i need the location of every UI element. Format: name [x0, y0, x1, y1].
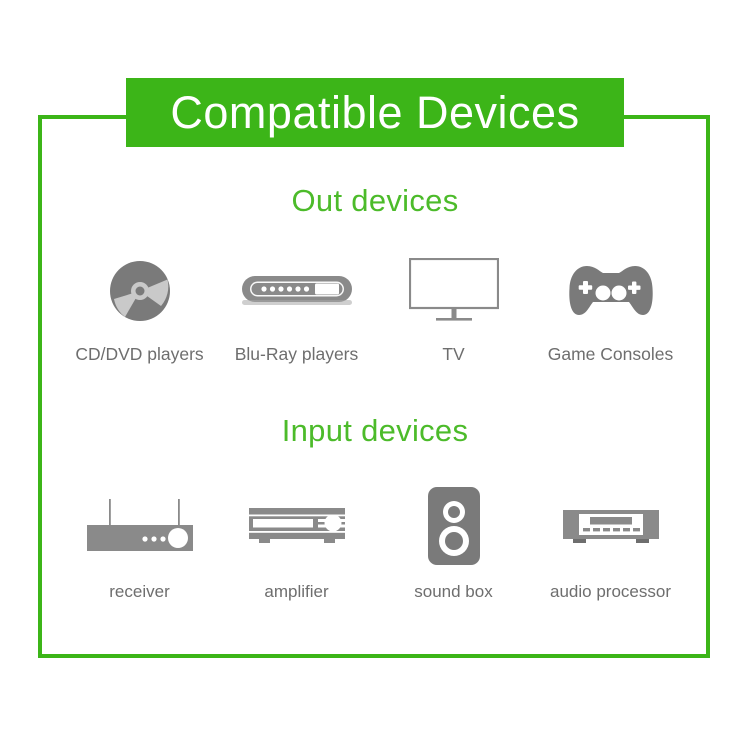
gamepad-icon: [567, 248, 655, 333]
section-heading-out-devices: Out devices: [0, 183, 750, 219]
blu-ray-player-icon: [242, 248, 352, 333]
page-title: Compatible Devices: [170, 90, 579, 135]
device-cd-dvd-players: CD/DVD players: [61, 248, 218, 365]
device-sound-box: sound box: [375, 478, 532, 602]
audio-processor-icon: [559, 478, 663, 573]
section-heading-input-devices: Input devices: [0, 413, 750, 449]
device-label: audio processor: [550, 582, 671, 602]
device-label: Blu-Ray players: [235, 344, 359, 365]
amplifier-icon: [245, 478, 349, 573]
device-label: receiver: [109, 582, 169, 602]
device-amplifier: amplifier: [218, 478, 375, 602]
input-devices-row: receiver amplifier: [60, 478, 690, 602]
device-label: CD/DVD players: [75, 344, 203, 365]
receiver-icon: [82, 478, 198, 573]
device-receiver: receiver: [61, 478, 218, 602]
tv-icon: [409, 248, 499, 333]
device-label: sound box: [414, 582, 492, 602]
title-banner: Compatible Devices: [126, 78, 624, 147]
device-audio-processor: audio processor: [532, 478, 689, 602]
device-label: Game Consoles: [548, 344, 673, 365]
compatible-devices-infographic: Compatible Devices Out devices CD/DVD pl…: [0, 0, 750, 750]
cd-dvd-disc-icon: [109, 248, 171, 333]
device-label: amplifier: [264, 582, 328, 602]
device-game-consoles: Game Consoles: [532, 248, 689, 365]
speaker-icon: [427, 478, 481, 573]
device-tv: TV: [375, 248, 532, 365]
device-blu-ray-players: Blu-Ray players: [218, 248, 375, 365]
device-label: TV: [442, 344, 464, 365]
out-devices-row: CD/DVD players Blu-Ray pl: [60, 248, 690, 365]
